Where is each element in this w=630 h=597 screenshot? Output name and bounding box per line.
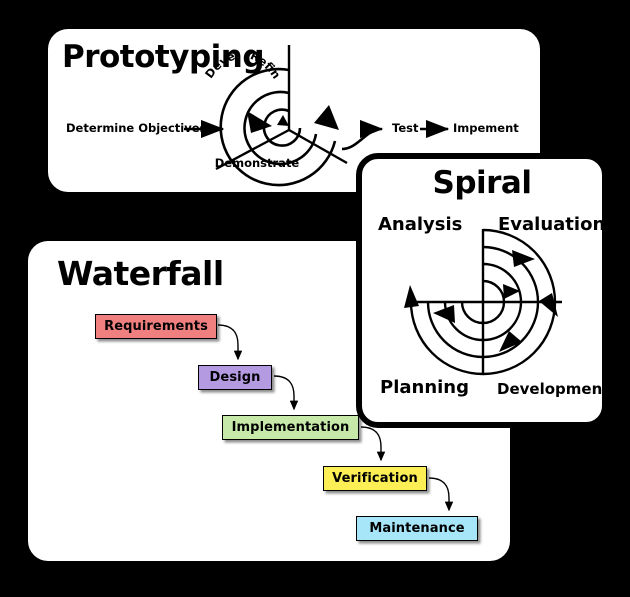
label-determine-objectives: Determine Objectives [66,123,206,135]
connector-implementation-verification [361,427,381,460]
prototyping-spiral-path [221,69,335,185]
diagram-canvas: Prototyping Determine Objectives Test Im… [0,0,630,597]
prototyping-cycle-arrowheads [247,105,339,133]
connector-requirements-design [218,325,238,359]
arrow-spiral-to-test [342,129,382,149]
card-title-prototyping: Prototyping [62,39,264,75]
label-analysis: Analysis [378,216,462,234]
label-development: Development [497,382,609,397]
stage-design[interactable]: Design [198,365,272,390]
label-test: Test [392,123,418,135]
card-title-waterfall: Waterfall [57,254,224,293]
stage-verification[interactable]: Verification [323,466,427,491]
spiral-axes [406,229,562,374]
spiral-turns [411,230,555,374]
label-planning: Planning [380,379,469,397]
card-spiral: Spiral Analysis Evaluation Planning Deve… [356,153,608,428]
connector-verification-maintenance [429,478,449,510]
stage-implementation[interactable]: Implementation [222,415,359,440]
connector-design-implementation [274,376,294,409]
label-demonstrate: Demonstrate [215,156,300,170]
spiral-arrowheads [404,250,558,352]
card-title-spiral: Spiral [362,165,602,201]
stage-requirements[interactable]: Requirements [95,314,217,339]
label-evaluation: Evaluation [498,216,605,234]
label-impement: Impement [453,123,519,135]
stage-maintenance[interactable]: Maintenance [356,516,478,541]
